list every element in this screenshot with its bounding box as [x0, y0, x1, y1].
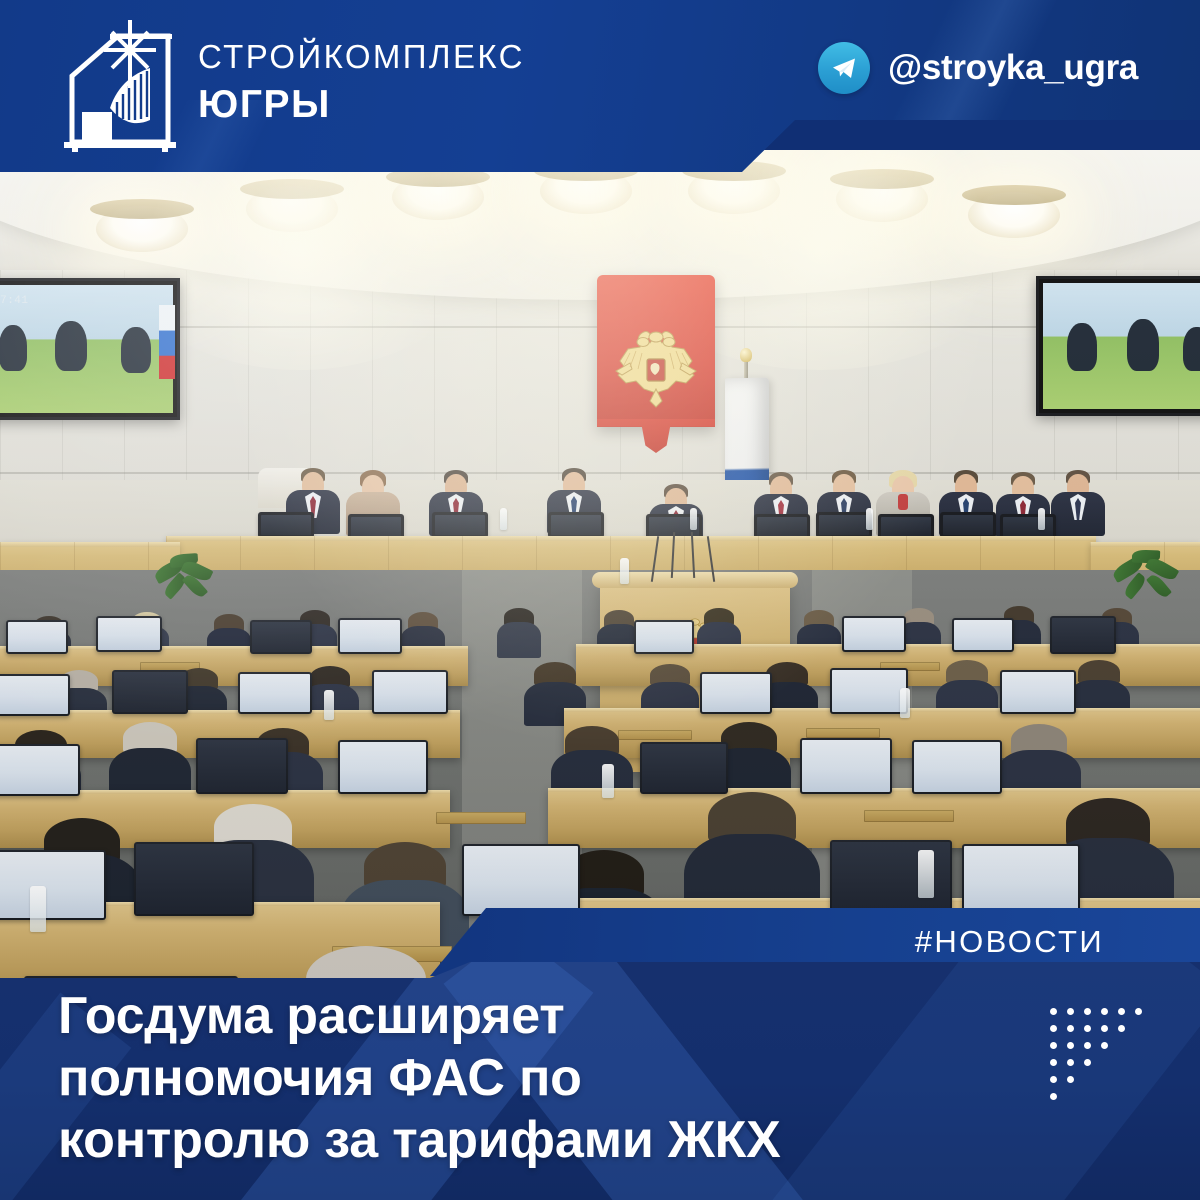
paper-plane-glyph [829, 53, 859, 83]
deputy-laptop [112, 670, 188, 714]
deputy-laptop [1050, 616, 1116, 654]
deputy-laptop [96, 616, 162, 652]
grid-dot [1118, 1025, 1125, 1032]
deputy-laptop [700, 672, 772, 714]
grid-dot [1084, 1025, 1091, 1032]
headline-line-2: полномочия ФАС по [58, 1048, 1018, 1110]
headline-line-3: контролю за тарифами ЖКХ [58, 1110, 1018, 1172]
deputy-laptop [912, 740, 1002, 794]
deputy-laptop [0, 850, 106, 920]
presidium-monitor [940, 512, 996, 538]
grid-dot [1118, 1008, 1125, 1015]
broadcast-screen-right [1036, 276, 1200, 416]
water-bottle [620, 558, 629, 584]
deputy-nameplate [618, 730, 692, 740]
dot-grid-decoration [1050, 1008, 1160, 1118]
water-bottle [900, 688, 910, 718]
grid-dot [1067, 1059, 1074, 1066]
deputy-laptop [134, 842, 254, 916]
ceiling-lamp [836, 176, 928, 222]
deputy-laptop [338, 618, 402, 654]
presidium-official [1052, 470, 1104, 534]
brand-name-line2: ЮГРЫ [198, 85, 525, 124]
grid-dot [1101, 1025, 1108, 1032]
ceiling-lamp [246, 186, 338, 232]
water-bottle [1038, 508, 1045, 530]
screen-timestamp: 07:41 [0, 295, 29, 307]
deputy-laptop [238, 672, 312, 714]
brand-name-line1: СТРОЙКОМПЛЕКС [198, 40, 525, 73]
deputy-laptop [0, 674, 70, 716]
telegram-handle-text: @stroyka_ugra [888, 48, 1138, 88]
grid-dot [1084, 1008, 1091, 1015]
stroykompleks-logo[interactable] [60, 16, 182, 156]
ceiling-lamp [540, 168, 632, 214]
presidium-monitor [548, 512, 604, 538]
grid-dot [1050, 1093, 1057, 1100]
deputy-laptop [372, 670, 448, 714]
brand-header: СТРОЙКОМПЛЕКС ЮГРЫ @stroyka_ugra [0, 0, 1200, 172]
headline: Госдума расширяет полномочия ФАС по конт… [58, 986, 1018, 1172]
ceiling-lamp [968, 192, 1060, 238]
grid-dot [1067, 1076, 1074, 1083]
deputy-laptop [6, 620, 68, 654]
deputy-nameplate [864, 810, 954, 822]
ceiling-lamp [96, 206, 188, 252]
presidium-monitor [816, 512, 872, 538]
russian-coat-of-arms [597, 275, 715, 427]
deputy-laptop [1000, 670, 1076, 714]
ceiling-lamp [392, 174, 484, 220]
news-poster: 07:41 [0, 0, 1200, 1200]
deputy-laptop [462, 844, 580, 916]
water-bottle [602, 764, 614, 798]
water-bottle [324, 690, 334, 720]
deputy [500, 608, 538, 654]
news-hashtag-label: #НОВОСТИ [915, 924, 1104, 960]
water-bottle [500, 508, 507, 530]
water-bottle [918, 850, 934, 898]
building-logo-icon [60, 16, 182, 156]
duma-session-photo: 07:41 [0, 150, 1200, 1000]
grid-dot [1084, 1042, 1091, 1049]
decorative-plant [1108, 546, 1184, 612]
deputy-laptop [962, 844, 1080, 916]
grid-dot [1050, 1042, 1057, 1049]
presidium-monitor [432, 512, 488, 538]
headline-line-1: Госдума расширяет [58, 986, 1018, 1048]
water-bottle [690, 508, 697, 530]
deputy-nameplate [806, 728, 880, 738]
deputy-laptop [0, 744, 80, 796]
grid-dot [1050, 1008, 1057, 1015]
grid-dot [1050, 1059, 1057, 1066]
deputy-laptop [196, 738, 288, 794]
ceiling-lamp [688, 168, 780, 214]
deputy-laptop [952, 618, 1014, 652]
headline-banner: Госдума расширяет полномочия ФАС по конт… [0, 962, 1200, 1200]
decorative-plant [148, 550, 220, 614]
deputy-laptop [842, 616, 906, 652]
grid-dot [1050, 1025, 1057, 1032]
deputy-laptop [338, 740, 428, 794]
deputy-laptop [250, 620, 312, 654]
deputy-nameplate [436, 812, 526, 824]
deputy-laptop [640, 742, 728, 794]
screen-image [1043, 283, 1200, 409]
presidium-monitor [258, 512, 314, 538]
telegram-handle-block[interactable]: @stroyka_ugra [818, 42, 1138, 94]
double-headed-eagle-icon [610, 327, 702, 409]
telegram-icon [818, 42, 870, 94]
grid-dot [1067, 1008, 1074, 1015]
grid-dot [1067, 1025, 1074, 1032]
brand-name: СТРОЙКОМПЛЕКС ЮГРЫ [198, 40, 525, 124]
grid-dot [1050, 1076, 1057, 1083]
grid-dot [1084, 1059, 1091, 1066]
water-bottle [30, 886, 46, 932]
deputy-laptop [634, 620, 694, 654]
grid-dot [1101, 1042, 1108, 1049]
grid-dot [1067, 1042, 1074, 1049]
grid-dot [1101, 1008, 1108, 1015]
grid-dot [1135, 1008, 1142, 1015]
broadcast-screen-left: 07:41 [0, 278, 180, 420]
deputy-laptop [800, 738, 892, 794]
deputy-laptop [830, 668, 908, 714]
water-bottle [866, 508, 873, 530]
